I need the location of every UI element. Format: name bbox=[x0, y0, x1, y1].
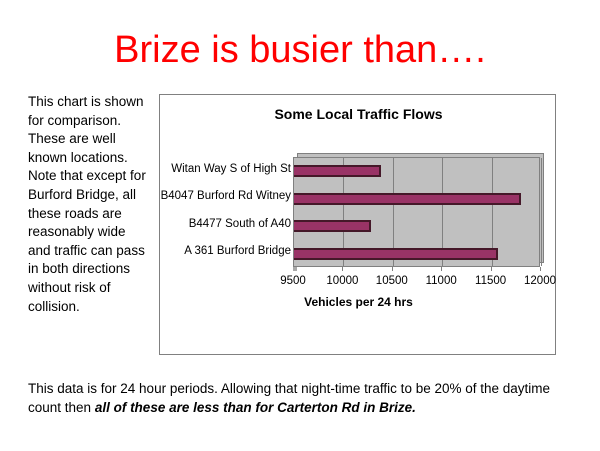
bar[interactable] bbox=[294, 165, 381, 177]
slide-title: Brize is busier than…. bbox=[0, 28, 600, 72]
chart-title: Some Local Traffic Flows bbox=[160, 106, 557, 122]
category-label: A 361 Burford Bridge bbox=[160, 245, 291, 257]
bar[interactable] bbox=[294, 220, 371, 232]
bar-row bbox=[294, 186, 539, 214]
plot-area bbox=[293, 157, 540, 267]
footer-note: This data is for 24 hour periods. Allowi… bbox=[28, 379, 578, 417]
x-tick-label: 12000 bbox=[524, 275, 556, 287]
bar-row bbox=[294, 213, 539, 241]
x-tick-label: 9500 bbox=[280, 275, 306, 287]
gridline bbox=[541, 158, 542, 266]
chart-container: Some Local Traffic Flows Witan Way S of … bbox=[159, 94, 556, 355]
x-tick-label: 10500 bbox=[376, 275, 408, 287]
x-axis-title: Vehicles per 24 hrs bbox=[160, 295, 557, 309]
x-tick-mark bbox=[540, 267, 541, 271]
category-label: B4047 Burford Rd Witney bbox=[160, 190, 291, 202]
x-tick-label: 11500 bbox=[475, 275, 506, 287]
x-tick-label: 10000 bbox=[326, 275, 358, 287]
category-label: Witan Way S of High St bbox=[160, 163, 291, 175]
bar-row bbox=[294, 158, 539, 186]
bar[interactable] bbox=[294, 193, 521, 205]
bar[interactable] bbox=[294, 248, 498, 260]
bar-row bbox=[294, 241, 539, 269]
category-label: B4477 South of A40 bbox=[160, 218, 291, 230]
footer-note-emphasis: all of these are less than for Carterton… bbox=[95, 400, 416, 415]
side-commentary-text: This chart is shown for comparison. Thes… bbox=[28, 93, 150, 316]
x-tick-label: 11000 bbox=[426, 275, 457, 287]
